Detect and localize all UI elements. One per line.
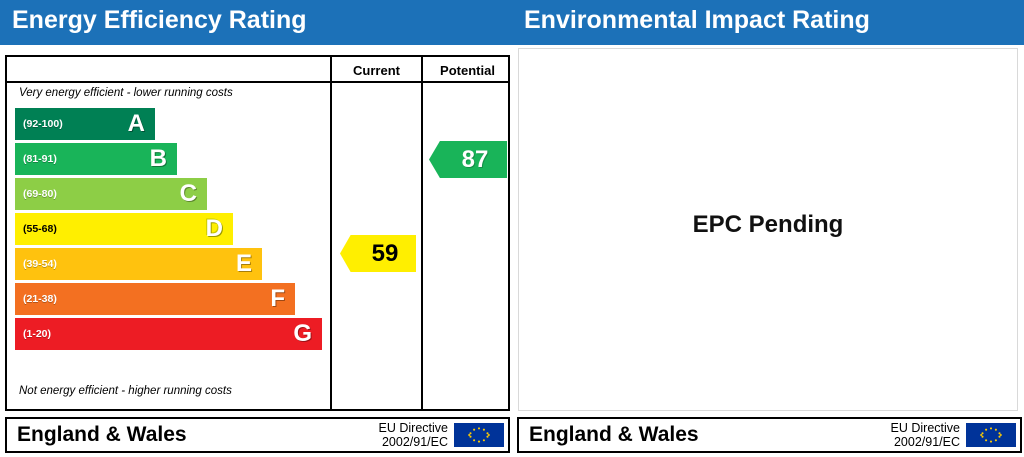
left-footer: England & Wales EU Directive 2002/91/EC [5, 417, 510, 453]
environmental-impact-panel: Environmental Impact Rating EPC Pending … [512, 0, 1024, 457]
potential-rating-arrow: 87 [429, 141, 507, 178]
environmental-impact-body: EPC Pending [518, 48, 1018, 411]
band-a: (92-100) A [15, 108, 155, 140]
energy-efficiency-panel: Energy Efficiency Rating Current Potenti… [0, 0, 512, 457]
band-g: (1-20) G [15, 318, 322, 350]
left-footer-directive: EU Directive 2002/91/EC [379, 422, 448, 449]
header-divider [7, 81, 508, 83]
potential-column-divider [421, 57, 423, 409]
band-c-range: (69-80) [23, 188, 57, 200]
caption-very-efficient: Very energy efficient - lower running co… [19, 87, 233, 99]
right-directive-line2: 2002/91/EC [891, 436, 960, 450]
energy-efficiency-title-bar: Energy Efficiency Rating [0, 0, 512, 45]
left-directive-line2: 2002/91/EC [379, 436, 448, 450]
caption-not-efficient: Not energy efficient - higher running co… [19, 385, 232, 397]
column-header-potential: Potential [423, 60, 512, 80]
band-a-letter: A [128, 112, 145, 136]
right-directive-line1: EU Directive [891, 422, 960, 436]
band-c: (69-80) C [15, 178, 207, 210]
left-footer-region: England & Wales [17, 423, 187, 447]
band-g-letter: G [293, 322, 312, 346]
current-rating-arrow: 59 [340, 235, 416, 272]
band-e: (39-54) E [15, 248, 262, 280]
potential-rating-value: 87 [448, 148, 489, 172]
page-title: Energy Efficiency Rating [12, 6, 307, 35]
eu-flag-icon [454, 423, 504, 447]
column-header-current: Current [332, 60, 421, 80]
right-footer-directive: EU Directive 2002/91/EC [891, 422, 960, 449]
band-d-letter: D [206, 217, 223, 241]
band-e-range: (39-54) [23, 258, 57, 270]
eu-flag-icon [966, 423, 1016, 447]
band-f-range: (21-38) [23, 293, 57, 305]
band-b-letter: B [150, 147, 167, 171]
environmental-page-title: Environmental Impact Rating [524, 6, 870, 35]
band-g-range: (1-20) [23, 328, 51, 340]
right-footer: England & Wales EU Directive 2002/91/EC [517, 417, 1022, 453]
current-column-divider [330, 57, 332, 409]
band-d: (55-68) D [15, 213, 233, 245]
left-directive-line1: EU Directive [379, 422, 448, 436]
band-d-range: (55-68) [23, 223, 57, 235]
energy-efficiency-chart: Current Potential Very energy efficient … [5, 55, 510, 411]
band-b-range: (81-91) [23, 153, 57, 165]
band-c-letter: C [180, 182, 197, 206]
band-f: (21-38) F [15, 283, 295, 315]
band-e-letter: E [236, 252, 252, 276]
band-a-range: (92-100) [23, 118, 63, 130]
epc-certificate: Energy Efficiency Rating Current Potenti… [0, 0, 1024, 457]
epc-pending-text: EPC Pending [693, 211, 844, 239]
environmental-impact-title-bar: Environmental Impact Rating [512, 0, 1024, 45]
current-rating-value: 59 [358, 242, 399, 266]
band-f-letter: F [270, 287, 285, 311]
band-b: (81-91) B [15, 143, 177, 175]
right-footer-region: England & Wales [529, 423, 699, 447]
